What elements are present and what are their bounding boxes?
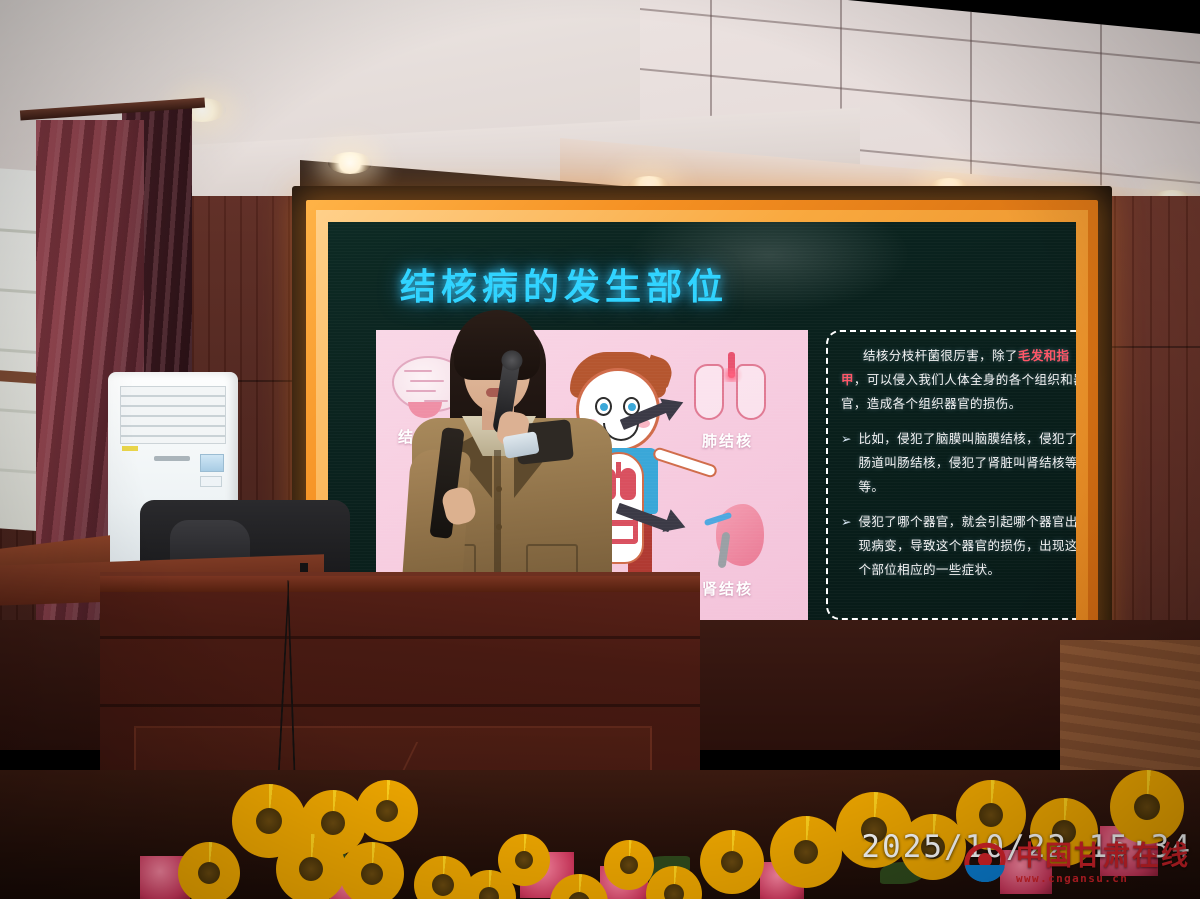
lung-label: 肺结核 [702, 430, 753, 451]
ceiling-downlight [328, 152, 372, 174]
sunflower [356, 780, 418, 842]
watermark-url: www.cngansu.cn [1016, 873, 1190, 884]
slide-text-panel: 结核分枝杆菌很厉害，除了毛发和指甲，可以侵入我们人体全身的各个组织和器官，造成各… [826, 330, 1076, 620]
sunflower-core [321, 811, 345, 835]
sunflower-core [376, 800, 398, 822]
sunflower-core [794, 840, 818, 864]
sunflower-core [198, 862, 220, 884]
lungs-icon [694, 352, 770, 424]
sunflower [276, 834, 346, 899]
sunflower [498, 834, 550, 886]
presenter-button [496, 486, 502, 492]
podium-molding [100, 636, 700, 639]
ac-vent-grille [120, 386, 226, 444]
sunflower-core [299, 857, 323, 881]
sunflower-core [620, 856, 638, 874]
bullet-marker-icon: ➢ [841, 427, 851, 499]
panel-bullet-2: ➢ 侵犯了哪个器官，就会引起哪个器官出现病变，导致这个器官的损伤，出现这个部位相… [841, 510, 1076, 582]
sunflower-core [664, 884, 684, 899]
presenter-hair-front [454, 310, 540, 380]
podium-ledge [100, 576, 700, 592]
panel-paragraph-part1: 结核分枝杆菌很厉害，除了 [863, 349, 1018, 363]
sunflower [700, 830, 764, 894]
kidney-icon [702, 498, 770, 572]
bullet-1-text: 比如，侵犯了脑膜叫脑膜结核，侵犯了肠道叫肠结核，侵犯了肾脏叫肾结核等等。 [858, 427, 1076, 499]
stage-floor [1060, 640, 1200, 790]
podium-molding [100, 704, 700, 707]
sunflower-core [568, 892, 590, 899]
sunflower-core [361, 863, 383, 885]
sunflower-core [515, 851, 533, 869]
watermark-name: 中国甘肃在线 [1016, 843, 1190, 870]
sunflower-core [432, 874, 454, 896]
kidney-label: 肾结核 [702, 578, 753, 599]
sunflower [178, 842, 240, 899]
sunflower [340, 842, 404, 899]
sunflower-core [479, 887, 499, 899]
panel-paragraph: 结核分枝杆菌很厉害，除了毛发和指甲，可以侵入我们人体全身的各个组织和器官，造成各… [841, 344, 1076, 416]
sunflower-core [256, 808, 282, 834]
photo-scene: 结核病的发生部位 结核性 [0, 0, 1200, 899]
watermark-logo-icon [962, 841, 1010, 885]
presenter-button [496, 524, 502, 530]
sunflower-core [1134, 794, 1160, 820]
watermark: 中国甘肃在线 www.cngansu.cn [962, 841, 1190, 885]
figure-arm-right [652, 446, 719, 479]
watermark-text: 中国甘肃在线 www.cngansu.cn [1016, 843, 1190, 884]
bullet-2-text: 侵犯了哪个器官，就会引起哪个器官出现病变，导致这个器官的损伤，出现这个部位相应的… [858, 510, 1076, 582]
ac-energy-label [200, 454, 224, 472]
ac-sticker [200, 476, 222, 487]
sunflower-core [979, 803, 1003, 827]
sunflower [770, 816, 842, 888]
panel-paragraph-part2: ，可以侵入我们人体全身的各个组织和器官，造成各个组织器官的损伤。 [841, 373, 1076, 411]
ac-brand-logo [154, 456, 190, 461]
ac-badge [122, 446, 138, 451]
sunflower-core [721, 851, 743, 873]
panel-bullet-1: ➢ 比如，侵犯了脑膜叫脑膜结核，侵犯了肠道叫肠结核，侵犯了肾脏叫肾结核等等。 [841, 427, 1076, 499]
sunflower [604, 840, 654, 890]
logo-wave [962, 865, 1008, 885]
bullet-marker-icon: ➢ [841, 510, 851, 582]
